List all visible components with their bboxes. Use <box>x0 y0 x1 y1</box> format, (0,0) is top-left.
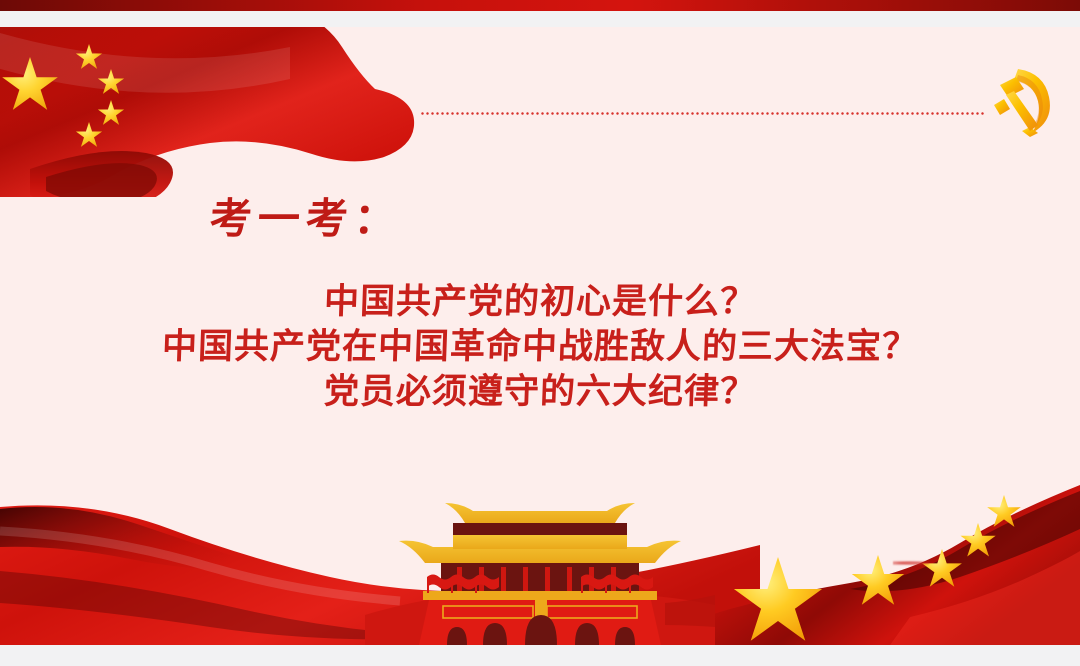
faint-red-mark <box>893 560 929 566</box>
hammer-and-sickle-icon <box>978 63 1058 139</box>
hammer-neck <box>994 99 1010 115</box>
question-line-3: 党员必须遵守的六大纪律？ <box>0 369 1080 414</box>
question-list: 中国共产党的初心是什么？ 中国共产党在中国革命中战胜敌人的三大法宝？ 党员必须遵… <box>0 279 1080 414</box>
hammer-handle <box>1006 91 1038 131</box>
gate-roof-main-upper <box>453 535 627 549</box>
gate-roof-upper <box>445 503 635 523</box>
presentation-slide: 考一考： 中国共产党的初心是什么？ 中国共产党在中国革命中战胜敌人的三大法宝？ … <box>0 27 1080 645</box>
bottom-gutter <box>0 645 1080 666</box>
slide-canvas: 考一考： 中国共产党的初心是什么？ 中国共产党在中国革命中战胜敌人的三大法宝？ … <box>0 0 1080 666</box>
chinese-flag-icon <box>0 27 440 197</box>
question-line-2: 中国共产党在中国革命中战胜敌人的三大法宝？ <box>0 324 1080 369</box>
gate-roof-upper-band <box>453 523 627 535</box>
page-title: 考一考： <box>208 185 403 246</box>
gate-balcony-band <box>423 591 657 600</box>
chinese-flag-stars-decoration <box>660 485 1080 645</box>
top-accent-band <box>0 0 1080 11</box>
dotted-divider <box>420 112 986 115</box>
question-line-1: 中国共产党的初心是什么？ <box>0 279 1080 324</box>
tiananmen-gate-icon <box>365 485 715 645</box>
